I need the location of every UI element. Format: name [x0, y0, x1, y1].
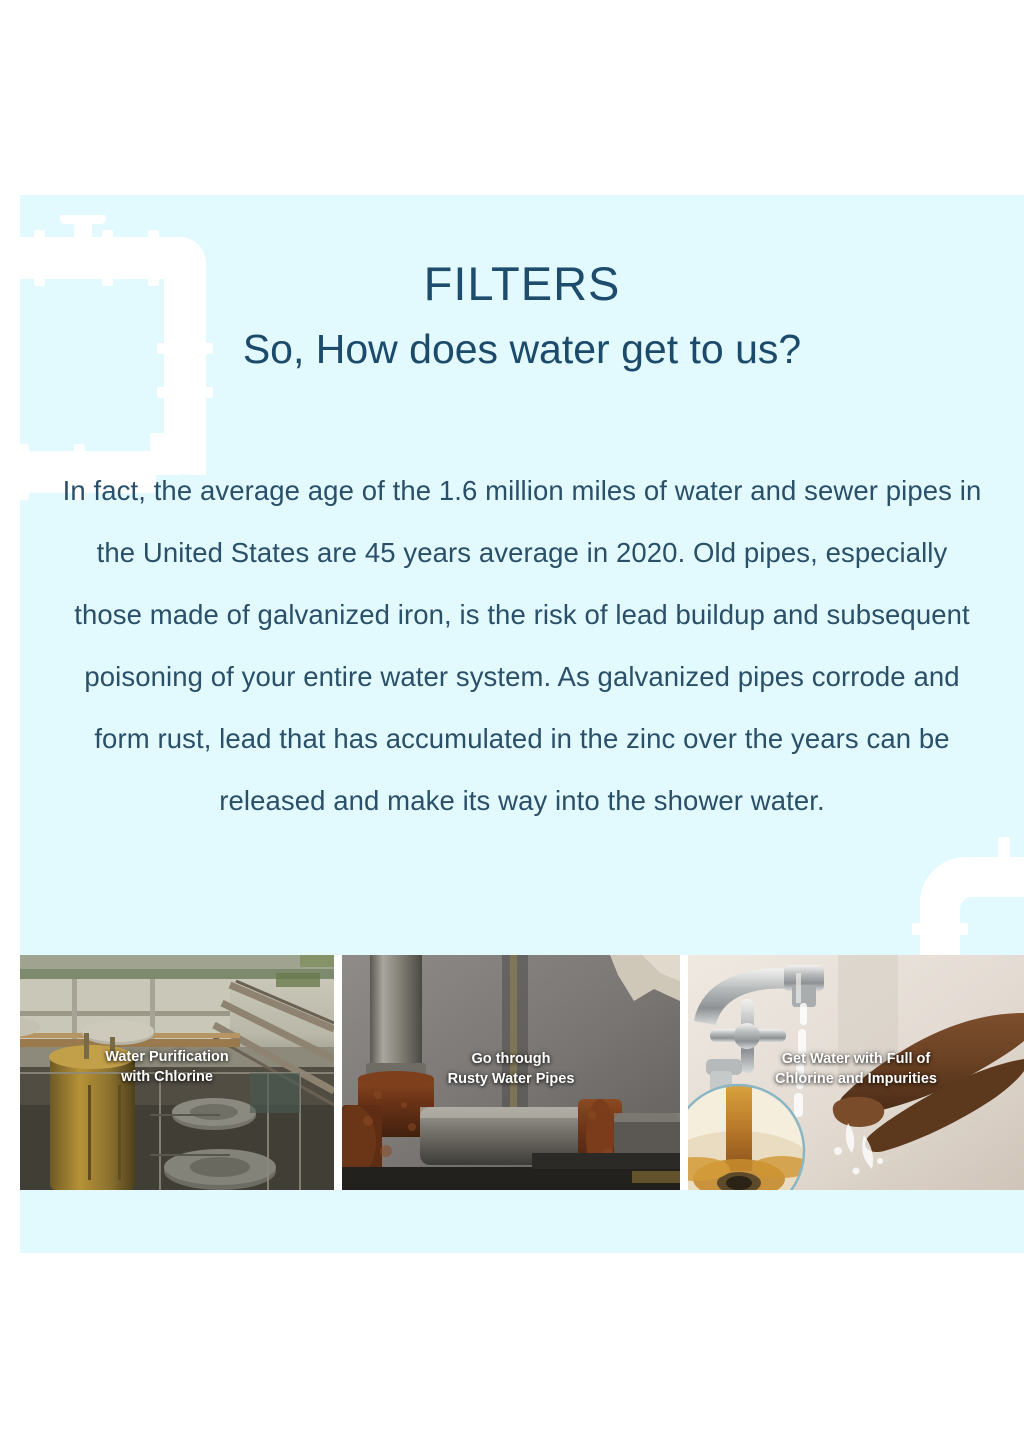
tile-caption: Water Purification with Chlorine: [20, 1047, 334, 1087]
content-panel: FILTERS So, How does water get to us? In…: [20, 195, 1024, 1253]
tile-caption: Get Water with Full of Chlorine and Impu…: [688, 1049, 1024, 1089]
body-paragraph: In fact, the average age of the 1.6 mill…: [62, 460, 982, 832]
tile-impure-water: Get Water with Full of Chlorine and Impu…: [688, 955, 1024, 1190]
tile-divider-2: [680, 955, 688, 1190]
page-subtitle: So, How does water get to us?: [20, 327, 1024, 372]
page-title: FILTERS: [20, 260, 1024, 307]
tile-divider-1: [334, 955, 342, 1190]
tile-caption: Go through Rusty Water Pipes: [342, 1049, 680, 1089]
heading-block: FILTERS So, How does water get to us?: [20, 260, 1024, 372]
tile-rusty-pipes: Go through Rusty Water Pipes: [342, 955, 680, 1190]
tile-water-purification: Water Purification with Chlorine: [20, 955, 334, 1190]
page-root: FILTERS So, How does water get to us? In…: [0, 0, 1024, 1451]
image-strip: Water Purification with Chlorine: [20, 955, 1024, 1190]
